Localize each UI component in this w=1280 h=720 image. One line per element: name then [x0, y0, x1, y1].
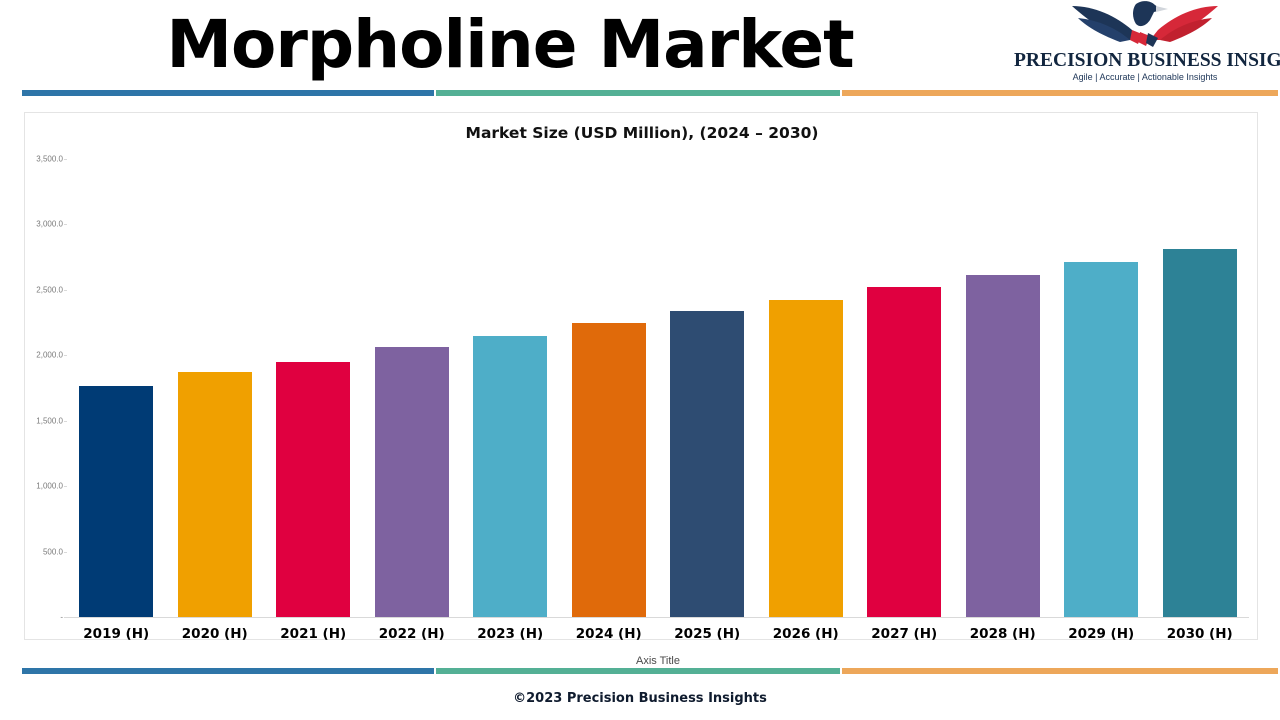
bar-2021h[interactable] [276, 362, 350, 617]
plot-area: -500.01,000.01,500.02,000.02,500.03,000.… [67, 149, 1249, 618]
y-axis-tick-label: 3,000.0 [23, 220, 63, 229]
bar-2023h[interactable] [473, 336, 547, 617]
x-axis-label: 2025 (H) [658, 626, 757, 642]
y-axis-tick-mark [64, 552, 67, 553]
chart-panel: Market Size (USD Million), (2024 – 2030)… [24, 112, 1258, 640]
header: Morpholine Market PRECISION BUSINESS INS… [0, 0, 1280, 100]
x-axis-label: 2028 (H) [954, 626, 1053, 642]
x-axis-label: 2022 (H) [363, 626, 462, 642]
bar-2022h[interactable] [375, 347, 449, 617]
y-axis-tick-mark [64, 421, 67, 422]
y-axis-tick-mark [64, 486, 67, 487]
divider-segment-green [436, 90, 840, 96]
bar-2029h[interactable] [1064, 262, 1138, 617]
bar-2020h[interactable] [178, 372, 252, 617]
x-axis-title: Axis Title [67, 655, 1249, 667]
divider-segment-orange [842, 668, 1278, 674]
divider-segment-blue [22, 668, 434, 674]
header-divider [0, 90, 1280, 96]
logo-tagline: Agile | Accurate | Actionable Insights [1014, 72, 1276, 82]
y-axis-tick-mark [64, 355, 67, 356]
y-axis-tick-mark [64, 224, 67, 225]
page-title: Morpholine Market [0, 2, 1020, 88]
bar-2026h[interactable] [769, 300, 843, 617]
bar-2025h[interactable] [670, 311, 744, 617]
x-axis-label: 2021 (H) [264, 626, 363, 642]
y-axis-tick-label: 500.0 [23, 547, 63, 556]
x-axis-label: 2026 (H) [757, 626, 856, 642]
bar-2030h[interactable] [1163, 249, 1237, 617]
bar-2019h[interactable] [79, 386, 153, 617]
divider-segment-green [436, 668, 840, 674]
bar-2027h[interactable] [867, 287, 941, 617]
y-axis-tick-mark [64, 617, 67, 618]
eagle-icon [1070, 0, 1220, 50]
y-axis-tick-mark [64, 290, 67, 291]
company-logo: PRECISION BUSINESS INSIGHTS Agile | Accu… [1014, 0, 1276, 88]
x-axis-label: 2029 (H) [1052, 626, 1151, 642]
x-axis-label: 2020 (H) [166, 626, 265, 642]
bar-2028h[interactable] [966, 275, 1040, 617]
y-axis-tick-label: 2,000.0 [23, 351, 63, 360]
x-axis-line [67, 617, 1249, 618]
x-axis-label: 2027 (H) [855, 626, 954, 642]
x-axis-label: 2030 (H) [1151, 626, 1250, 642]
divider-segment-blue [22, 90, 434, 96]
chart-title: Market Size (USD Million), (2024 – 2030) [25, 124, 1259, 142]
y-axis-tick-label: 3,500.0 [23, 155, 63, 164]
divider-segment-orange [842, 90, 1278, 96]
footer-copyright: ©2023 Precision Business Insights [0, 691, 1280, 706]
y-axis-tick-label: 2,500.0 [23, 285, 63, 294]
y-axis-tick-label: 1,500.0 [23, 416, 63, 425]
x-axis-label: 2023 (H) [461, 626, 560, 642]
y-axis-tick-label: - [23, 613, 63, 622]
y-axis-tick-mark [64, 159, 67, 160]
footer-divider [0, 668, 1280, 674]
logo-company-name: PRECISION BUSINESS INSIGHTS [1014, 50, 1276, 72]
y-axis-tick-label: 1,000.0 [23, 482, 63, 491]
x-axis-label: 2024 (H) [560, 626, 659, 642]
x-axis-label: 2019 (H) [67, 626, 166, 642]
bar-2024h[interactable] [572, 323, 646, 617]
